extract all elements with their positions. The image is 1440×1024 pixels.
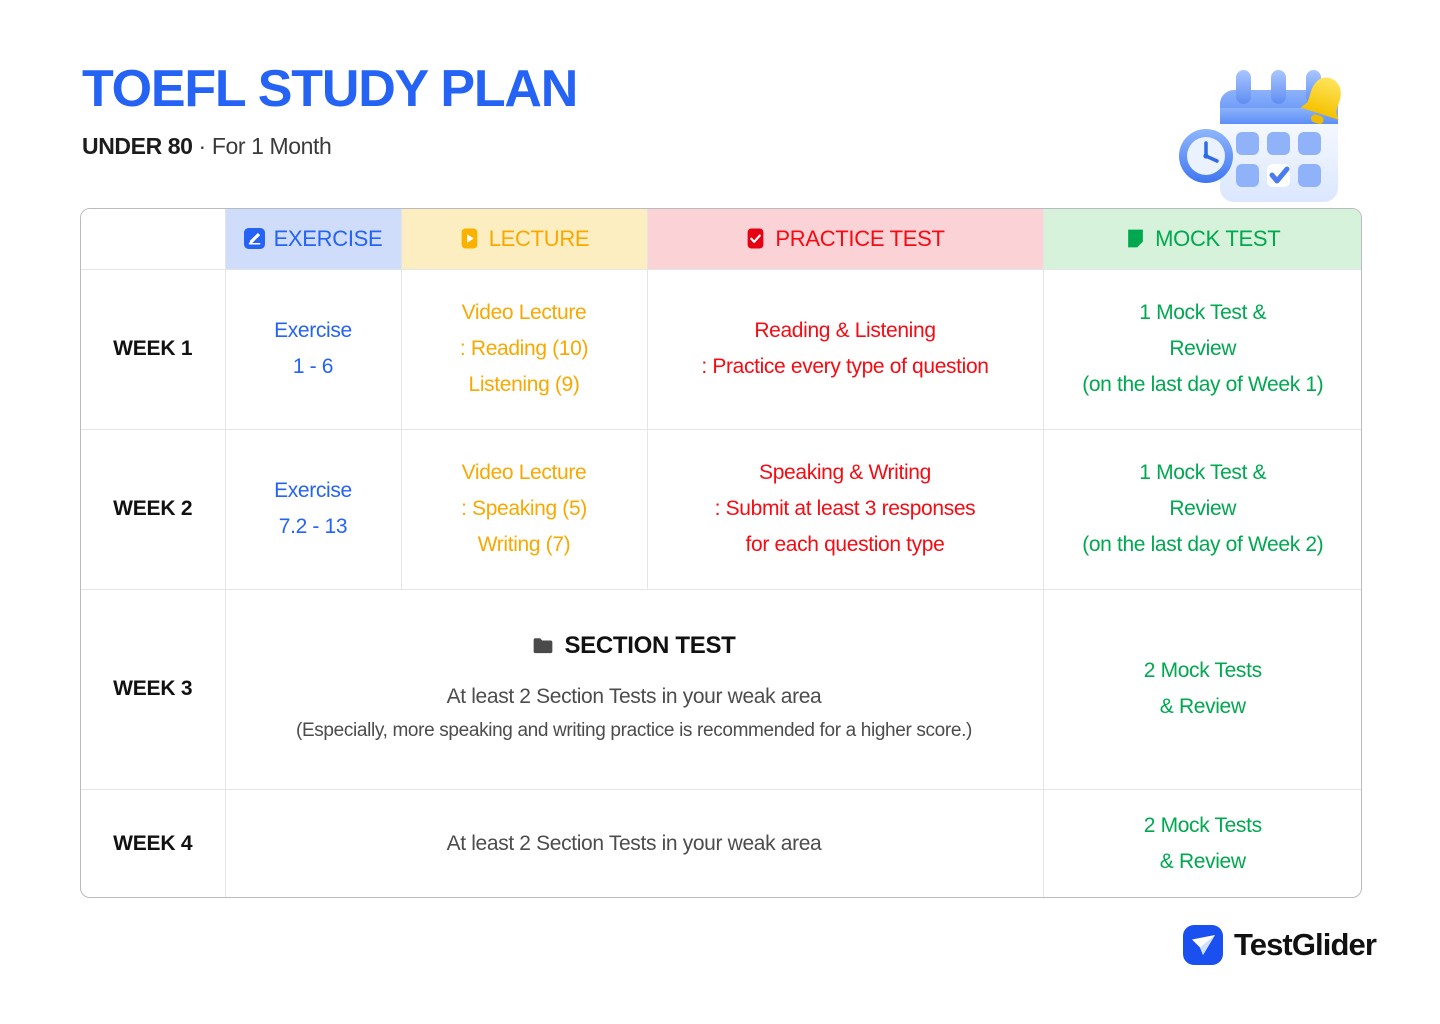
week-label-cell-1: WEEK 1 [81, 269, 225, 429]
study-plan-page: TOEFL STUDY PLAN UNDER 80 · For 1 Month [0, 0, 1440, 1024]
practice-line: : Practice every type of question [658, 349, 1033, 385]
lecture-line: Video Lecture [412, 295, 637, 331]
lecture-line: Writing (7) [412, 527, 637, 563]
header-practice-test: PRACTICE TEST [647, 209, 1043, 269]
section-test-cell-week-3: SECTION TEST At least 2 Section Tests in… [225, 589, 1043, 789]
header-exercise: EXERCISE [225, 209, 401, 269]
mock-line: 1 Mock Test & [1054, 455, 1353, 491]
subtitle-level: UNDER 80 [82, 133, 193, 159]
week-label-4: WEEK 4 [113, 832, 192, 855]
mock-line: (on the last day of Week 1) [1054, 367, 1353, 403]
exercise-cell-week-2: Exercise 7.2 - 13 [225, 429, 401, 589]
mock-line: 2 Mock Tests [1054, 653, 1353, 689]
practice-cell-week-2: Speaking & Writing : Submit at least 3 r… [647, 429, 1043, 589]
header-mock-test: MOCK TEST [1043, 209, 1362, 269]
week-label-3: WEEK 3 [113, 677, 192, 700]
lecture-cell-week-1: Video Lecture : Reading (10) Listening (… [401, 269, 647, 429]
week-label-cell-4: WEEK 4 [81, 789, 225, 898]
header-mock-label: MOCK TEST [1155, 226, 1280, 252]
mock-line: 2 Mock Tests [1054, 808, 1353, 844]
exercise-cell-week-1: Exercise 1 - 6 [225, 269, 401, 429]
exercise-line: Exercise [236, 473, 391, 509]
week-label-1: WEEK 1 [113, 337, 192, 360]
mock-line: & Review [1054, 844, 1353, 880]
header-exercise-label: EXERCISE [274, 226, 383, 252]
brand-name: TestGlider [1234, 927, 1376, 963]
exercise-line: Exercise [236, 313, 391, 349]
header-practice-label: PRACTICE TEST [775, 226, 944, 252]
mock-cell-week-3: 2 Mock Tests & Review [1043, 589, 1362, 789]
subtitle-separator: · [193, 133, 212, 159]
section-test-line: At least 2 Section Tests in your weak ar… [236, 827, 1033, 862]
week-label-cell-3: WEEK 3 [81, 589, 225, 789]
lecture-cell-week-2: Video Lecture : Speaking (5) Writing (7) [401, 429, 647, 589]
mock-line: Review [1054, 331, 1353, 367]
table-row-week-1: WEEK 1 Exercise 1 - 6 Video Lecture : Re… [81, 269, 1362, 429]
lecture-line: : Speaking (5) [412, 491, 637, 527]
header-blank-cell [81, 209, 225, 269]
practice-cell-week-1: Reading & Listening : Practice every typ… [647, 269, 1043, 429]
table-row-week-3: WEEK 3 SECTION TEST At least 2 Section T… [81, 589, 1362, 789]
page-title: TOEFL STUDY PLAN [82, 62, 577, 117]
exercise-line: 1 - 6 [236, 349, 391, 385]
page-subtitle: UNDER 80 · For 1 Month [82, 133, 577, 160]
exercise-line: 7.2 - 13 [236, 509, 391, 545]
lecture-line: Listening (9) [412, 367, 637, 403]
section-test-heading: SECTION TEST [242, 632, 1027, 660]
table-header-row: EXERCISE LECTURE [81, 209, 1362, 269]
page-header: TOEFL STUDY PLAN UNDER 80 · For 1 Month [82, 62, 577, 160]
header-lecture: LECTURE [401, 209, 647, 269]
week-label-cell-2: WEEK 2 [81, 429, 225, 589]
practice-line: for each question type [658, 527, 1033, 563]
study-plan-table: EXERCISE LECTURE [80, 208, 1362, 898]
lecture-line: Video Lecture [412, 455, 637, 491]
table-row-week-4: WEEK 4 At least 2 Section Tests in your … [81, 789, 1362, 898]
practice-line: Reading & Listening [658, 313, 1033, 349]
mock-line: (on the last day of Week 2) [1054, 527, 1353, 563]
section-test-note: (Especially, more speaking and writing p… [242, 715, 1027, 746]
calendar-clock-bell-illustration [1168, 52, 1373, 212]
check-square-icon [745, 228, 766, 249]
mock-line: 1 Mock Test & [1054, 295, 1353, 331]
play-square-icon [459, 228, 480, 249]
lecture-line: : Reading (10) [412, 331, 637, 367]
note-icon [1125, 228, 1146, 249]
pencil-square-icon [244, 228, 265, 249]
mock-cell-week-2: 1 Mock Test & Review (on the last day of… [1043, 429, 1362, 589]
mock-cell-week-1: 1 Mock Test & Review (on the last day of… [1043, 269, 1362, 429]
section-test-cell-week-4: At least 2 Section Tests in your weak ar… [225, 789, 1043, 898]
testglider-logo: TestGlider [1183, 925, 1376, 965]
folder-icon [532, 635, 554, 657]
week-label-2: WEEK 2 [113, 497, 192, 520]
practice-line: Speaking & Writing [658, 455, 1033, 491]
mock-line: & Review [1054, 689, 1353, 725]
table-row-week-2: WEEK 2 Exercise 7.2 - 13 Video Lecture :… [81, 429, 1362, 589]
section-test-title: SECTION TEST [564, 632, 735, 660]
mock-cell-week-4: 2 Mock Tests & Review [1043, 789, 1362, 898]
subtitle-duration: For 1 Month [212, 133, 332, 159]
header-lecture-label: LECTURE [489, 226, 590, 252]
mock-line: Review [1054, 491, 1353, 527]
practice-line: : Submit at least 3 responses [658, 491, 1033, 527]
paper-plane-icon [1183, 925, 1223, 965]
section-test-line: At least 2 Section Tests in your weak ar… [242, 680, 1027, 715]
